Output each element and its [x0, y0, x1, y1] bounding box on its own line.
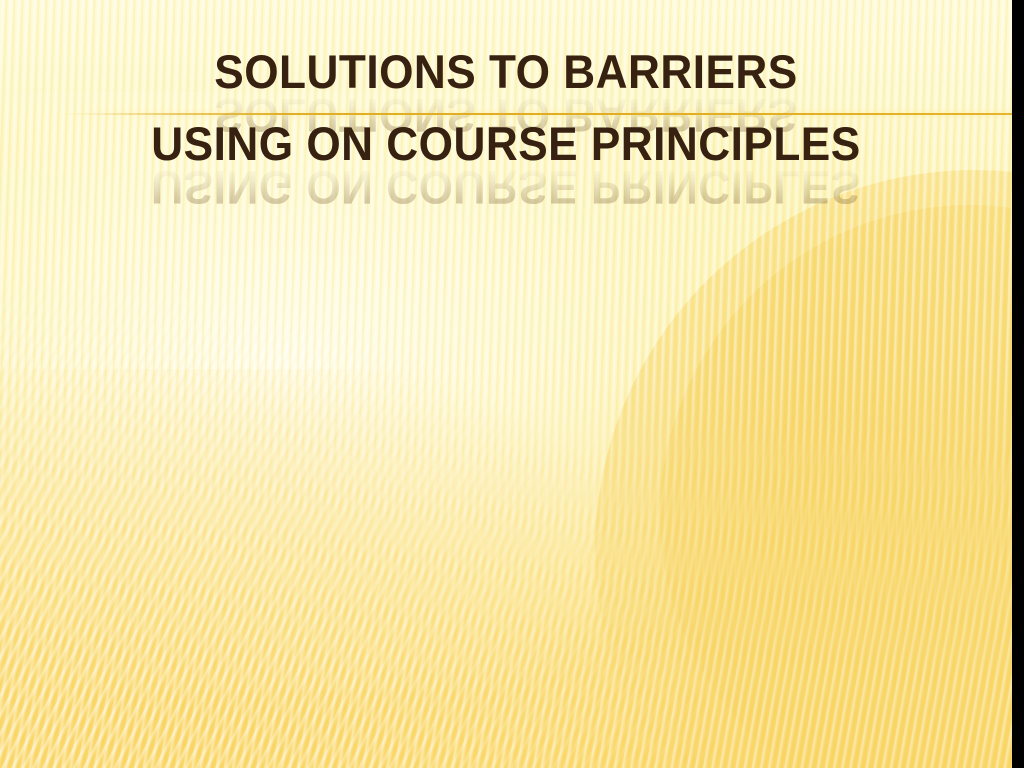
background-arc-upper-right-inner: [660, 205, 1012, 768]
slide-title-line-1: SOLUTIONS TO BARRIERS: [30, 48, 981, 95]
title-divider-rule: [62, 113, 1012, 115]
background-arc-upper-right: [595, 170, 1012, 768]
presentation-slide: SOLUTIONS TO BARRIERS USING ON COURSE PR…: [0, 0, 1024, 768]
slide-edge-band-right: [1012, 0, 1024, 768]
slide-title-line-2: USING ON COURSE PRINCIPLES: [30, 120, 981, 167]
background-wash-lower-left: [0, 369, 678, 768]
title-line-2-reflection: USING ON COURSE PRINCIPLES: [30, 164, 981, 211]
slide-title-block: SOLUTIONS TO BARRIERS USING ON COURSE PR…: [0, 0, 1012, 215]
slide-background: SOLUTIONS TO BARRIERS USING ON COURSE PR…: [0, 0, 1012, 768]
